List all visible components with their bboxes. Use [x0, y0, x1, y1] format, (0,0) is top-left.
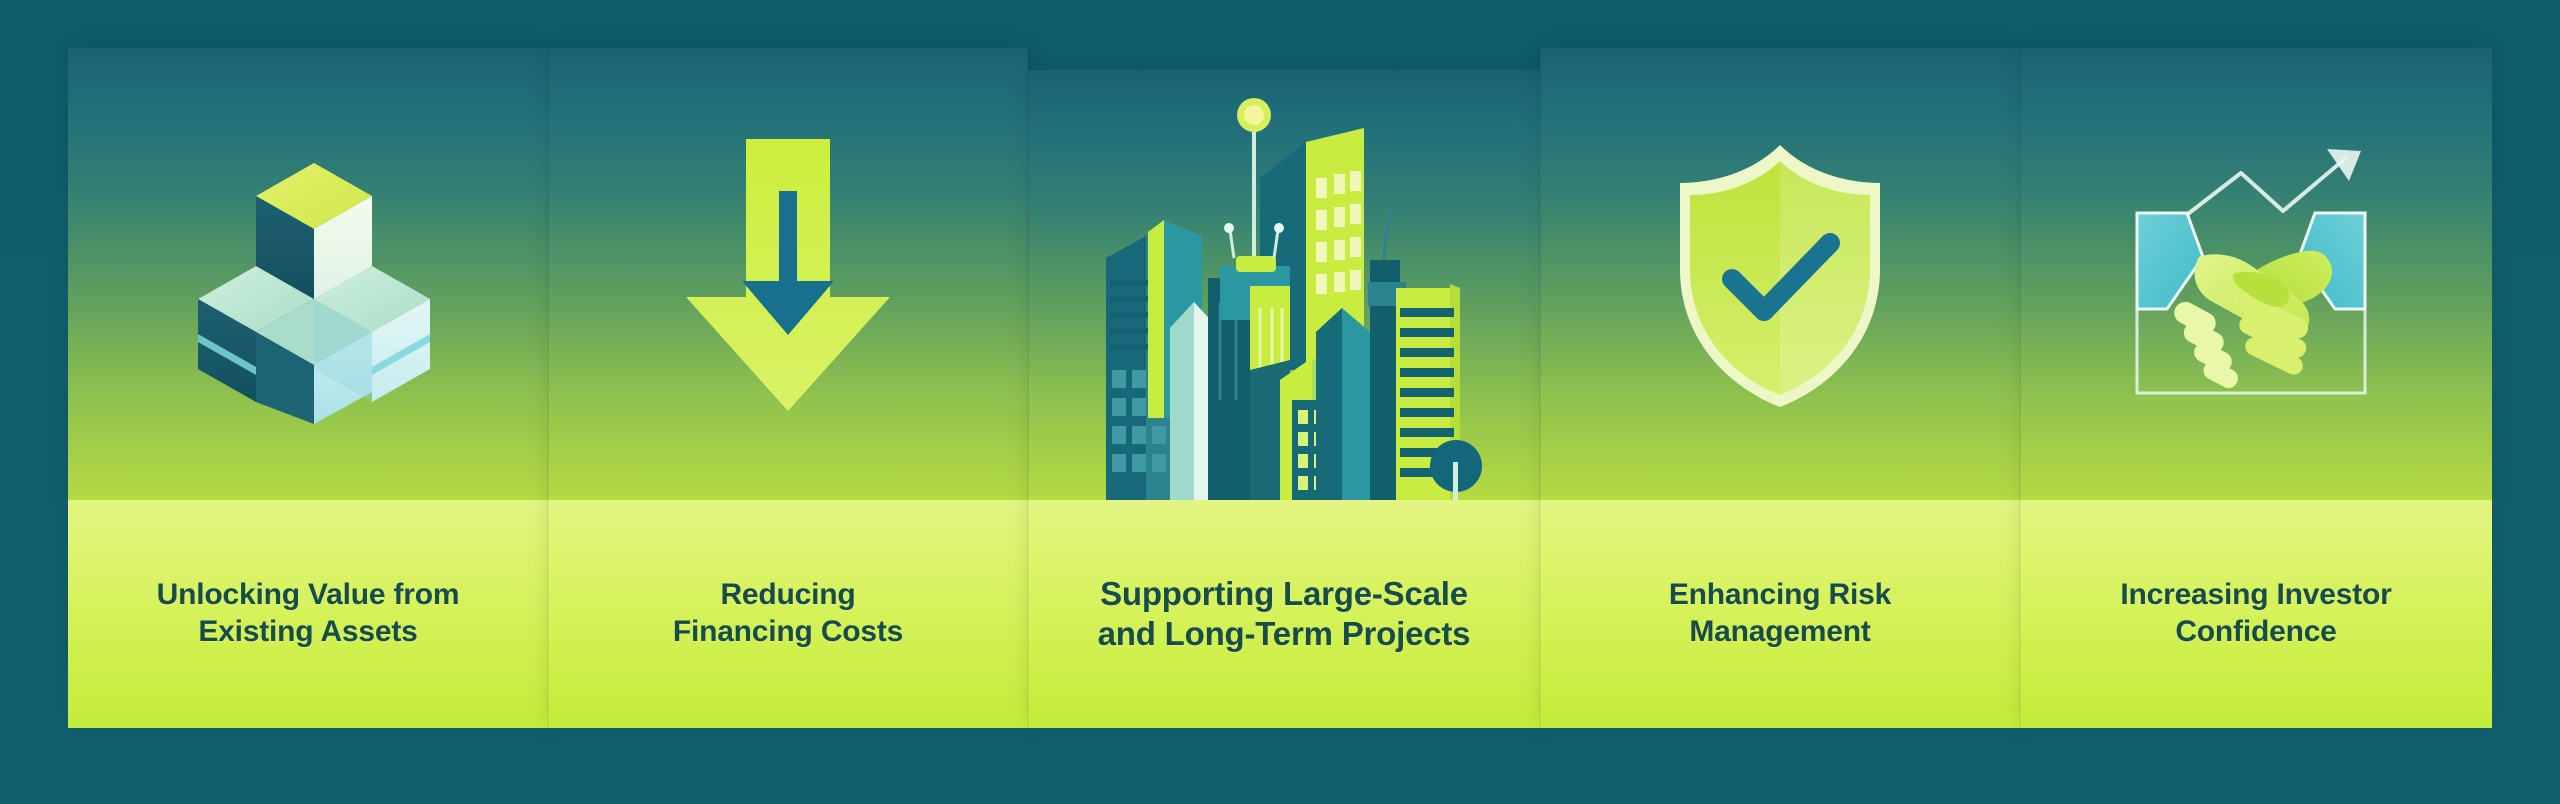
panel-2-label: Reducing Financing Costs: [673, 577, 903, 650]
panel-1-artwork: [68, 48, 548, 500]
panel-3-artwork: [1028, 70, 1540, 500]
down-arrow-icon: [548, 48, 1028, 500]
shield-check-icon: [1540, 48, 2020, 500]
divider-1: [547, 48, 549, 728]
panel-2-label-line1: Reducing: [720, 578, 855, 611]
infographic-canvas: Unlocking Value from Existing Assets: [0, 0, 2560, 804]
panel-1-caption: Unlocking Value from Existing Assets: [68, 500, 548, 728]
panel-risk-management[interactable]: Enhancing Risk Management: [1540, 48, 2020, 728]
panel-unlocking-value[interactable]: Unlocking Value from Existing Assets: [68, 48, 548, 728]
panel-5-caption: Increasing Investor Confidence: [2020, 500, 2492, 728]
panel-4-label-line2: Management: [1689, 615, 1870, 648]
panel-1-label: Unlocking Value from Existing Assets: [157, 577, 460, 650]
panel-3-label-line1: Supporting Large-Scale: [1100, 575, 1468, 612]
handshake-growth-icon: [2020, 48, 2492, 500]
divider-3: [1539, 48, 1541, 728]
panel-investor-confidence[interactable]: Increasing Investor Confidence: [2020, 48, 2492, 728]
panel-4-label-line1: Enhancing Risk: [1669, 578, 1891, 611]
panel-4-caption: Enhancing Risk Management: [1540, 500, 2020, 728]
panel-5-label: Increasing Investor Confidence: [2120, 577, 2391, 650]
panel-2-caption: Reducing Financing Costs: [548, 500, 1028, 728]
panel-reducing-costs[interactable]: Reducing Financing Costs: [548, 48, 1028, 728]
panel-5-artwork: [2020, 48, 2492, 500]
divider-2: [1027, 48, 1029, 728]
divider-4: [2019, 48, 2021, 728]
panel-supporting-projects[interactable]: Supporting Large-Scale and Long-Term Pro…: [1028, 70, 1540, 728]
panel-5-label-line1: Increasing Investor: [2120, 578, 2391, 611]
panel-3-label-line2: and Long-Term Projects: [1098, 615, 1471, 652]
panel-3-caption: Supporting Large-Scale and Long-Term Pro…: [1028, 500, 1540, 728]
panel-1-label-line1: Unlocking Value from: [157, 578, 460, 611]
panel-5-label-line2: Confidence: [2175, 615, 2336, 648]
isometric-blocks-icon: [68, 48, 548, 500]
panel-3-label: Supporting Large-Scale and Long-Term Pro…: [1098, 574, 1471, 655]
cityscape-icon: [1028, 70, 1540, 500]
panel-4-label: Enhancing Risk Management: [1669, 577, 1891, 650]
panel-2-label-line2: Financing Costs: [673, 615, 903, 648]
panel-1-label-line2: Existing Assets: [198, 615, 417, 648]
panel-2-artwork: [548, 48, 1028, 500]
panel-4-artwork: [1540, 48, 2020, 500]
